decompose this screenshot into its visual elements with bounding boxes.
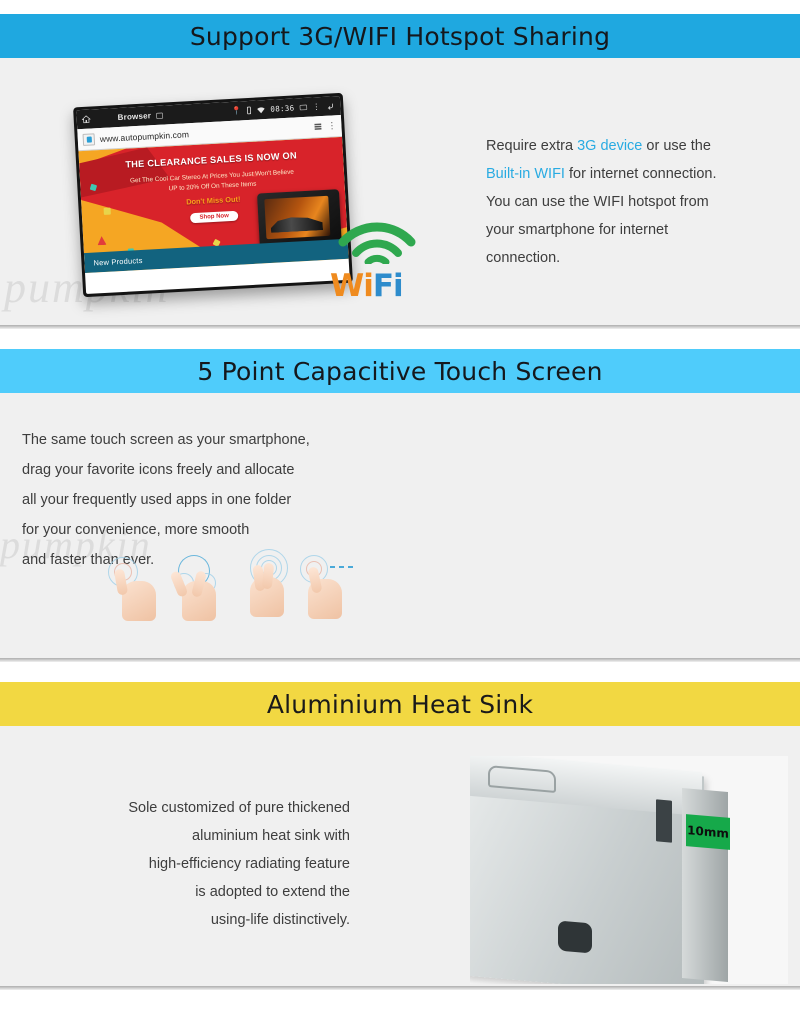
desc-line-4: for your convenience, more smooth (22, 515, 382, 545)
heat-sink-screw-hole (558, 921, 592, 954)
tabs-icon[interactable] (313, 122, 322, 131)
home-icon[interactable] (81, 115, 90, 124)
touch-screen-description: The same touch screen as your smartphone… (22, 425, 382, 575)
wifi-icon (256, 106, 265, 114)
section-touch-screen-band: 5 Point Capacitive Touch Screen (0, 349, 800, 393)
screenshot-icon (299, 104, 307, 111)
desc-line-3: all your frequently used apps in one fol… (22, 485, 382, 515)
hotspot-description: Require extra 3G device or use the Built… (486, 132, 776, 272)
status-bar-time: 08:36 (270, 103, 295, 113)
advertisement-banner: THE CLEARANCE SALES IS NOW ON Get The Co… (78, 137, 348, 273)
section-heat-sink: Aluminium Heat Sink Sole customized of p… (0, 682, 800, 990)
section-heat-sink-title: Aluminium Heat Sink (267, 690, 533, 719)
highlight-built-in-wifi: Built-in WIFI (486, 166, 565, 182)
wifi-arcs-icon (338, 218, 416, 264)
desc-line-4: is adopted to extend the (60, 878, 350, 906)
measurement-badge: 10mm (686, 814, 730, 850)
desc-text: or use the (642, 138, 711, 154)
desc-line-5: connection. (486, 244, 776, 272)
desc-line-2: drag your favorite icons freely and allo… (22, 455, 382, 485)
desc-text: for internet connection. (565, 166, 717, 182)
press-and-hold-gesture-icon (236, 553, 300, 617)
overflow-menu-icon[interactable]: ⋮ (327, 120, 337, 131)
section-hotspot-band: Support 3G/WIFI Hotspot Sharing (0, 14, 800, 58)
wifi-text-wi: Wi (330, 268, 373, 304)
desc-line-3: You can use the WIFI hotspot from (486, 188, 776, 216)
desc-line-5: using-life distinctively. (60, 906, 350, 934)
shop-now-button[interactable]: Shop Now (190, 211, 238, 224)
overflow-menu-icon[interactable]: ⋮ (312, 103, 320, 111)
section-hotspot: Support 3G/WIFI Hotspot Sharing pumpkin … (0, 14, 800, 329)
section-touch-screen: 5 Point Capacitive Touch Screen pumpkin … (0, 349, 800, 662)
new-products-label: New Products (93, 255, 143, 267)
swipe-gesture-icon (300, 555, 364, 619)
heat-sink-description: Sole customized of pure thickened alumin… (60, 794, 350, 934)
wifi-logo-text: WiFi (330, 268, 403, 304)
battery-icon (246, 106, 251, 115)
sd-card-icon (156, 111, 164, 119)
back-arrow-icon[interactable] (325, 101, 335, 111)
highlight-3g-device: 3G device (577, 138, 642, 154)
desc-line-3: high-efficiency radiating feature (60, 850, 350, 878)
section-hotspot-title: Support 3G/WIFI Hotspot Sharing (190, 22, 610, 51)
wifi-logo: WiFi (330, 218, 422, 304)
page-favicon-icon (82, 133, 95, 146)
heat-sink-photo: 10mm (470, 756, 788, 984)
pinch-gesture-icon (172, 557, 226, 621)
measurement-label: 10mm (687, 823, 729, 841)
heat-sink-notch (656, 799, 672, 842)
section-heat-sink-band: Aluminium Heat Sink (0, 682, 800, 726)
section-touch-screen-title: 5 Point Capacitive Touch Screen (197, 357, 602, 386)
browser-device-mockup: Browser 📍 08:36 ⋮ (73, 93, 353, 297)
product-feature-page: Support 3G/WIFI Hotspot Sharing pumpkin … (0, 0, 800, 1028)
desc-line-1: Require extra 3G device or use the (486, 132, 776, 160)
desc-line-1: Sole customized of pure thickened (60, 794, 350, 822)
browser-title: Browser (117, 111, 151, 122)
desc-line-2: Built-in WIFI for internet connection. (486, 160, 776, 188)
location-pin-icon: 📍 (231, 107, 241, 116)
device-screen: Browser 📍 08:36 ⋮ (76, 96, 350, 294)
swipe-trail (330, 566, 354, 568)
single-tap-gesture-icon (112, 557, 166, 621)
desc-line-2: aluminium heat sink with (60, 822, 350, 850)
desc-line-4: your smartphone for internet (486, 216, 776, 244)
wifi-text-fi: Fi (373, 268, 403, 304)
desc-text: Require extra (486, 138, 577, 154)
desc-line-1: The same touch screen as your smartphone… (22, 425, 382, 455)
